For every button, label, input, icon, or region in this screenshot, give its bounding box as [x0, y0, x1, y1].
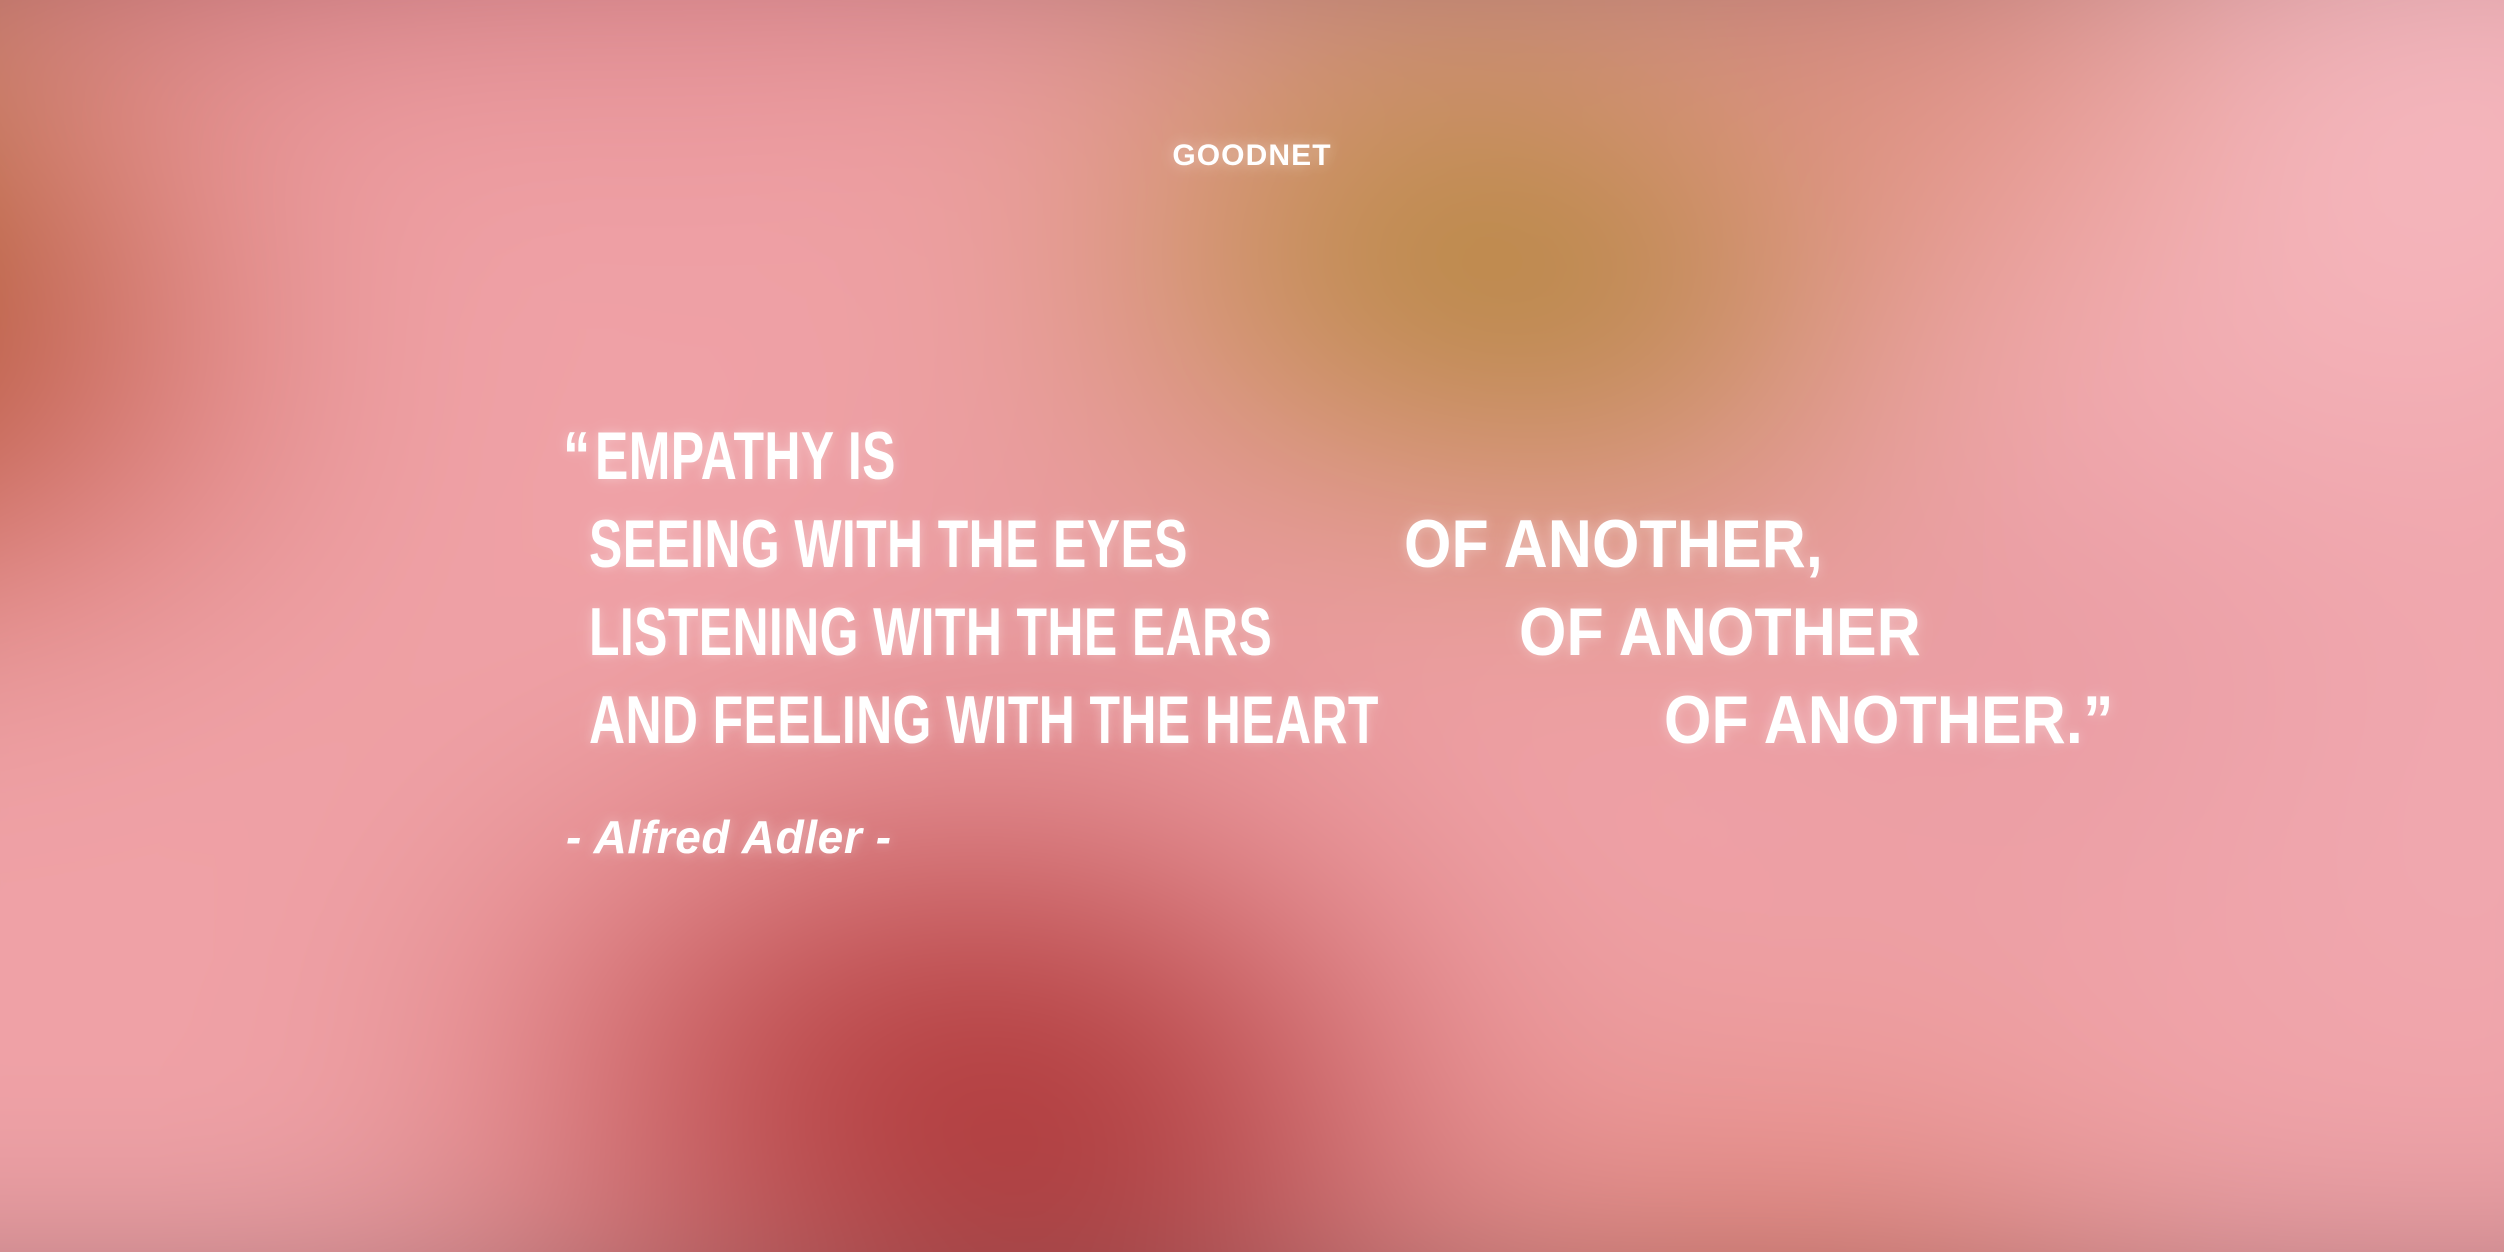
quote-segment: LISTENING WITH THE EARS: [589, 588, 1272, 676]
quote-line-4: AND FEELING WITH THE HEART OF ANOTHER.”: [563, 676, 2323, 764]
quote-segment: OF ANOTHER,: [1404, 500, 1823, 588]
quote-segment: OF ANOTHER: [1519, 588, 1921, 676]
quote-segment: SEEING WITH THE EYES: [589, 500, 1188, 588]
open-quote-mark: “: [563, 412, 590, 500]
goodnet-logo: GOODNET: [0, 141, 2504, 171]
quote-card: GOODNET “EMPATHY IS SEEING WITH THE EYES…: [0, 0, 2504, 1252]
card-content: GOODNET “EMPATHY IS SEEING WITH THE EYES…: [0, 0, 2504, 1252]
quote-line-3: LISTENING WITH THE EARS OF ANOTHER: [563, 588, 2323, 676]
quote-segment: EMPATHY IS: [595, 412, 896, 500]
quote-line-1: “EMPATHY IS: [563, 412, 2323, 500]
quote-text: “EMPATHY IS SEEING WITH THE EYES OF ANOT…: [563, 412, 2323, 764]
quote-segment: AND FEELING WITH THE HEART: [589, 676, 1379, 764]
quote-attribution: - Alfred Adler -: [566, 814, 892, 860]
quote-line-2: SEEING WITH THE EYES OF ANOTHER,: [563, 500, 2323, 588]
quote-segment: OF ANOTHER.”: [1664, 676, 2114, 764]
